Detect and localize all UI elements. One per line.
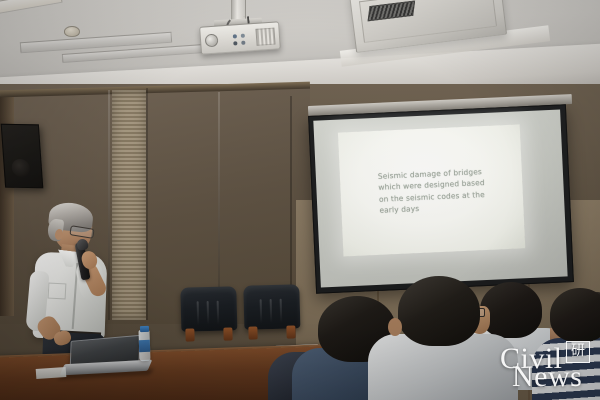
audience-head	[398, 276, 480, 346]
projector-indicator	[233, 34, 237, 38]
chair-crease	[280, 299, 283, 323]
chair-armrest	[185, 328, 194, 341]
ceiling-projector	[199, 21, 281, 55]
water-bottle-label	[139, 340, 150, 352]
projection-screen-surface: Seismic damage of bridges which were des…	[313, 110, 567, 288]
projected-slide: Seismic damage of bridges which were des…	[338, 124, 525, 256]
projector-lens-icon	[205, 34, 219, 48]
projector-indicator	[241, 34, 245, 38]
executive-chair	[176, 286, 241, 344]
wall-speaker	[1, 124, 44, 189]
projector-vent	[255, 28, 275, 46]
executive-chair	[239, 284, 304, 342]
paper-sheet	[36, 367, 67, 379]
audience-member	[546, 288, 600, 400]
chair-backrest	[180, 286, 237, 331]
chair-crease	[197, 301, 200, 325]
ceiling-light-panel	[0, 0, 63, 15]
wall-seam	[146, 88, 148, 320]
wall-seam	[218, 92, 220, 318]
speaker-cone-icon	[11, 159, 30, 177]
projector-indicator	[241, 41, 245, 45]
audience-head	[550, 288, 600, 342]
chair-crease	[217, 301, 220, 325]
projector-indicator	[233, 41, 237, 45]
chair-crease	[207, 301, 210, 325]
audience-torso-striped	[532, 338, 600, 400]
audience-member	[382, 276, 500, 400]
chair-armrest	[248, 326, 257, 339]
chair-backrest	[243, 284, 300, 329]
chair-crease	[270, 299, 273, 323]
audience-ear	[388, 318, 402, 336]
shirt-pocket	[48, 283, 67, 300]
chair-crease	[260, 299, 263, 323]
chair-armrest	[223, 327, 232, 340]
projection-screen: Seismic damage of bridges which were des…	[308, 104, 574, 294]
chair-armrest	[286, 325, 295, 338]
photo-scene: Seismic damage of bridges which were des…	[0, 0, 600, 400]
water-bottle-cap	[140, 326, 149, 332]
slide-text-block: Seismic damage of bridges which were des…	[378, 165, 514, 216]
smoke-detector-icon	[64, 26, 80, 37]
